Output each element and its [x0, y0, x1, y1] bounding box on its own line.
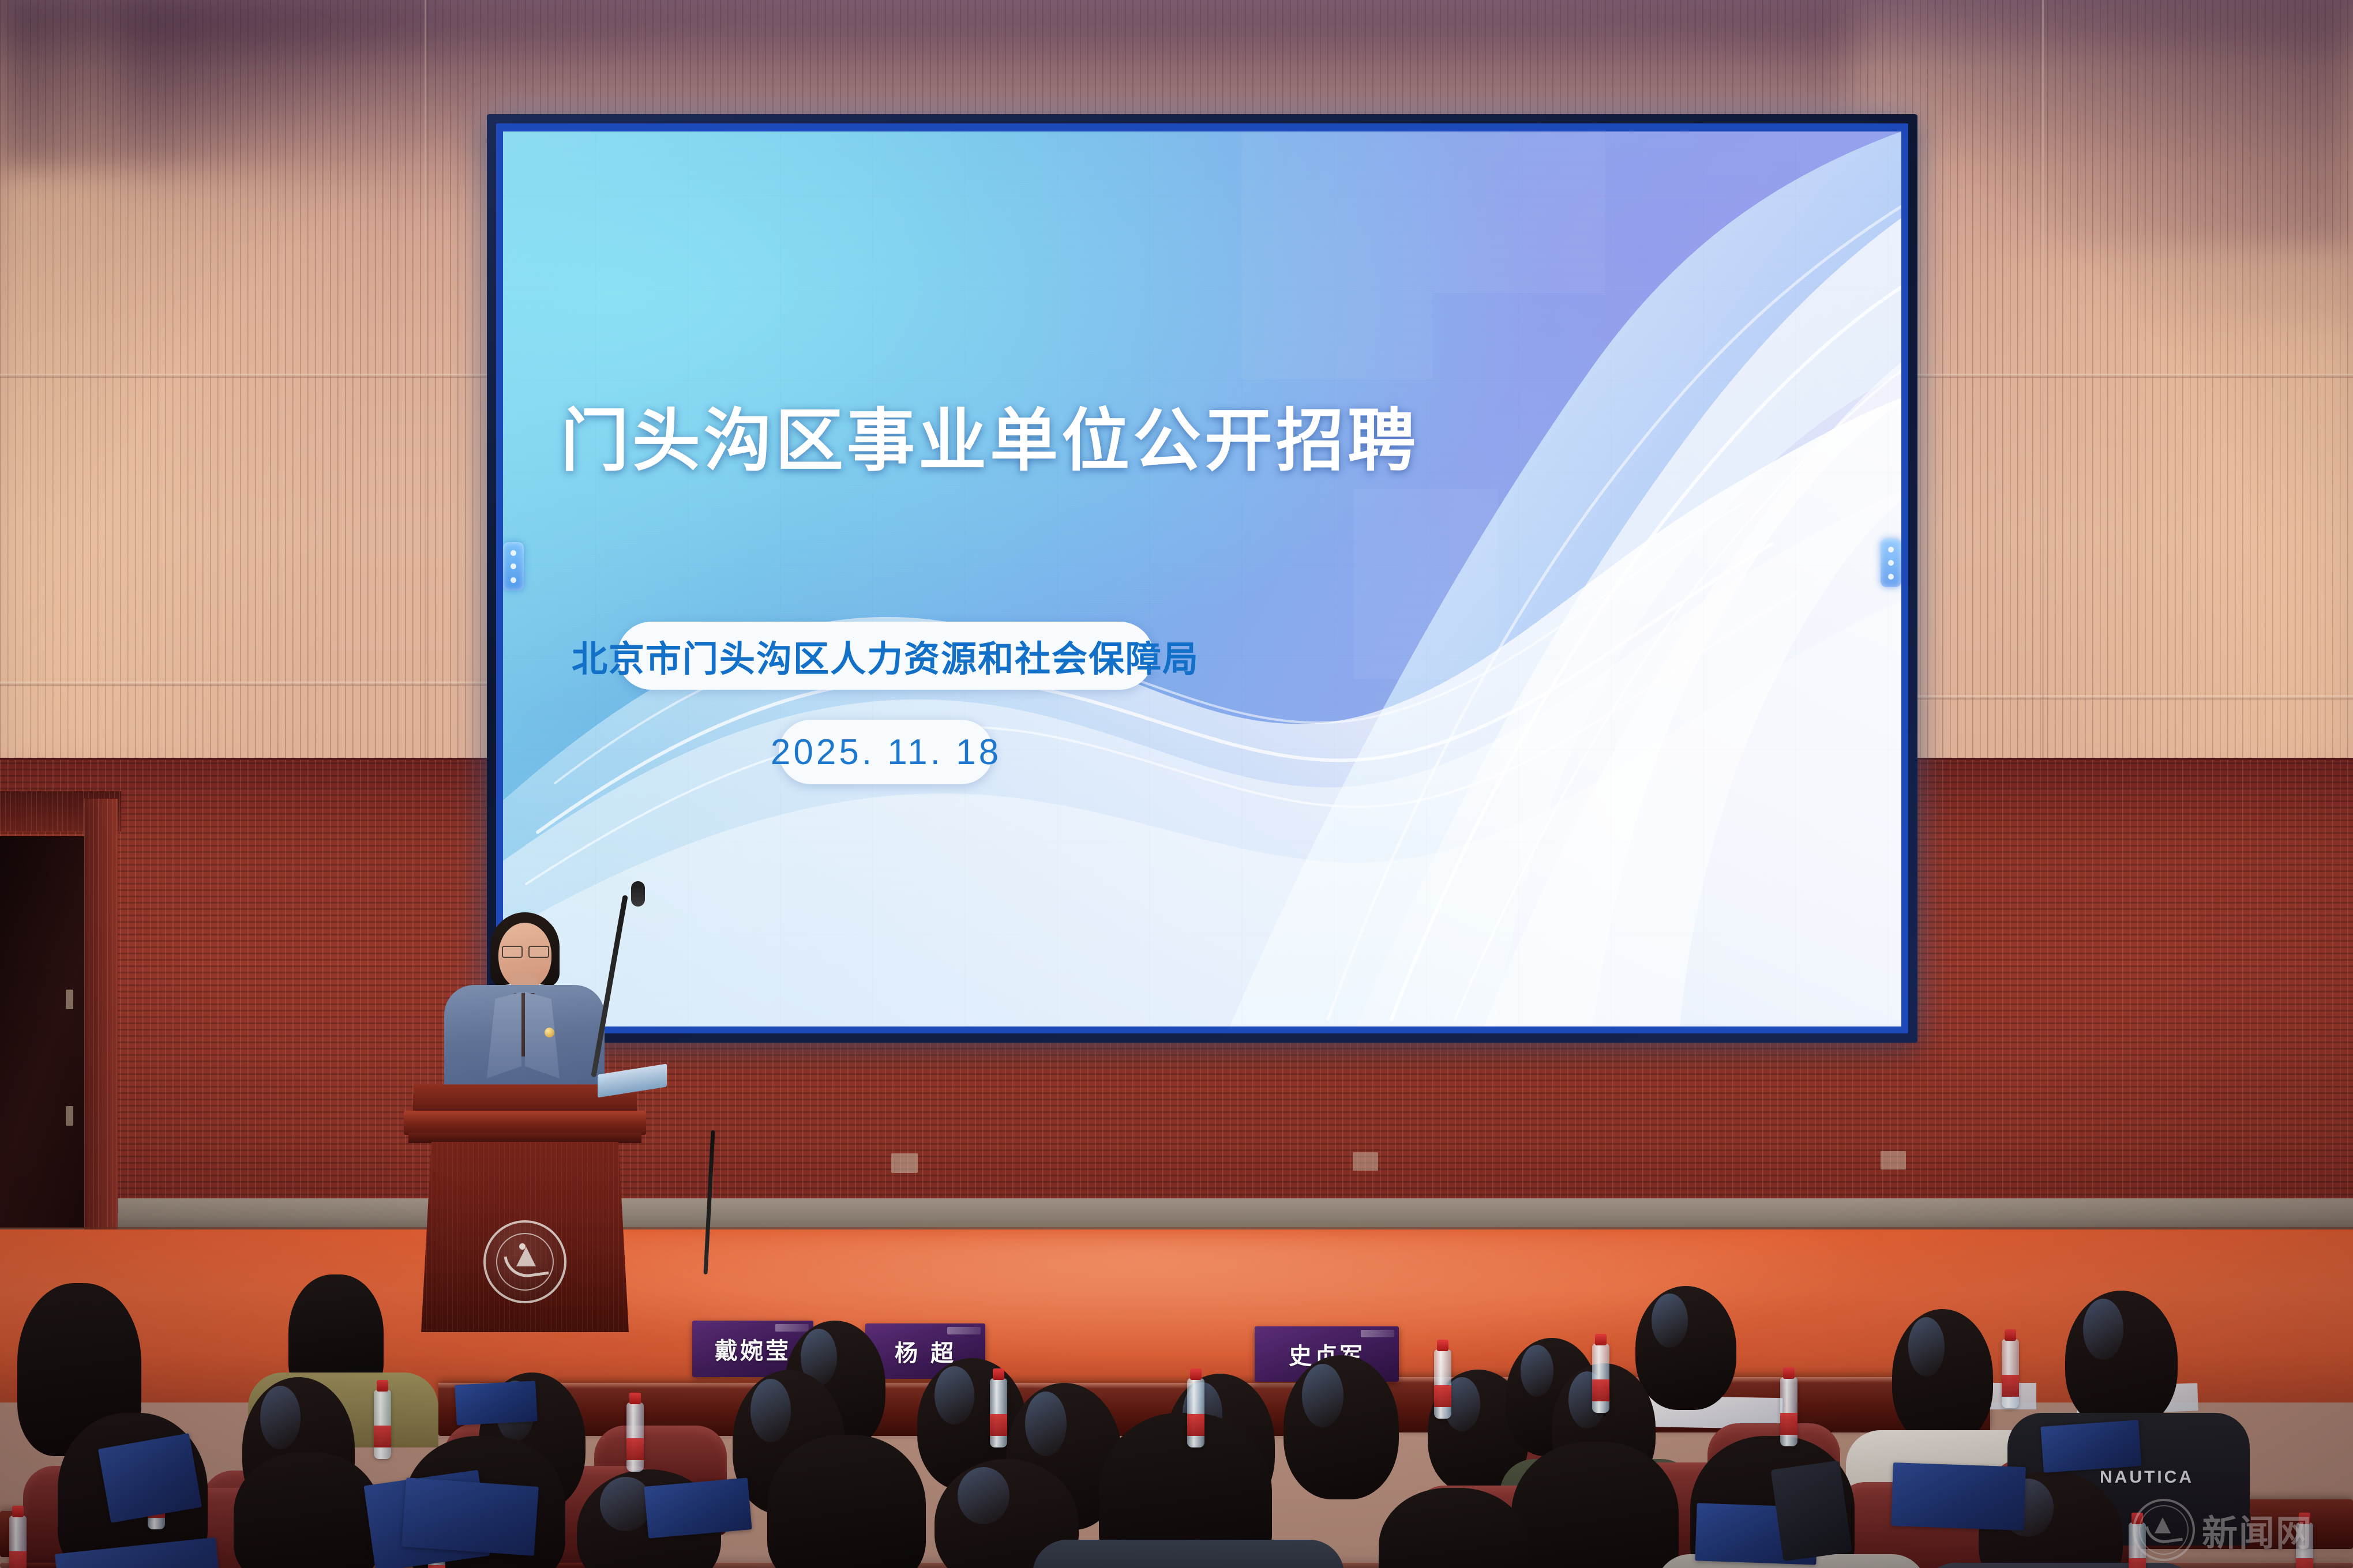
slide-date-text: 2025. 11. 18: [771, 732, 1001, 773]
wall-highlight-left: [0, 173, 438, 761]
speaker-at-podium: [437, 900, 610, 1101]
water-bottle-6[interactable]: [990, 1378, 1007, 1447]
water-bottle-11[interactable]: [2002, 1339, 2019, 1408]
shoulders-r1-k: [1921, 1563, 2198, 1568]
jacket-brand-text: NAUTICA: [2100, 1468, 2194, 1487]
tablet-device[interactable]: [1770, 1460, 1852, 1561]
water-bottle-10[interactable]: [1780, 1377, 1797, 1446]
wall-outlet-3: [1881, 1151, 1906, 1170]
water-bottle-8[interactable]: [1434, 1349, 1451, 1419]
led-panel-blotch-3: [1354, 489, 1498, 679]
wall-highlight-right: [1857, 248, 2353, 767]
head-r3-g: [1635, 1286, 1736, 1410]
nameplate-1-label: 戴婉莹: [715, 1332, 791, 1366]
watermark-seal-icon: [2133, 1499, 2195, 1561]
wall-panel-seam-1: [425, 0, 426, 761]
folder-5[interactable]: [455, 1381, 537, 1425]
head-r3-h: [1892, 1309, 1993, 1445]
wall-seam-left: [0, 682, 496, 686]
wall-outlet-2: [1353, 1152, 1378, 1171]
wall-outlet-1: [891, 1153, 918, 1173]
folder-7[interactable]: [2040, 1420, 2141, 1473]
folder-1[interactable]: [98, 1433, 202, 1523]
nameplate-3-brandmark: [1361, 1330, 1394, 1337]
led-panel-blotch-2: [1432, 131, 1605, 293]
door-hinge-plate-lower: [66, 1106, 73, 1126]
wall-shadow-left: [0, 0, 438, 173]
speaker-lapel-pin: [545, 1028, 554, 1037]
speaker-glasses-icon: [502, 946, 549, 956]
audience-area: 戴婉莹 杨 超 史贞军: [0, 1240, 2353, 1568]
led-pixel-grid: [503, 131, 1901, 1026]
water-bottle-9[interactable]: [1592, 1344, 1609, 1413]
nameplate-2-brandmark: [947, 1327, 981, 1334]
slide-date-pill: 2025. 11. 18: [779, 720, 993, 784]
head-r3-d: [1284, 1355, 1399, 1499]
conference-photo-scene: 门头沟区事业单位公开招聘 北京市门头沟区人力资源和社会保障局 2025. 11.…: [0, 0, 2353, 1568]
folder-6[interactable]: [1891, 1462, 2026, 1531]
door-hinge-plate-upper: [66, 990, 73, 1009]
lectern-cornice-lower: [408, 1133, 641, 1143]
presentation-screen[interactable]: 门头沟区事业单位公开招聘 北京市门头沟区人力资源和社会保障局 2025. 11.…: [503, 131, 1901, 1026]
folder-4[interactable]: [401, 1477, 539, 1556]
slide-title: 门头沟区事业单位公开招聘: [561, 385, 1541, 484]
folder-9[interactable]: [644, 1477, 752, 1538]
watermark-text: 新闻网: [2202, 1504, 2313, 1556]
head-r1-e: [767, 1435, 926, 1568]
nameplate-1-brandmark: [775, 1324, 809, 1332]
head-r2-nautica: [2065, 1291, 2178, 1429]
doorway-jamb: [84, 799, 118, 1237]
wall-seam-right: [1909, 695, 2353, 700]
left-edge-toggle-icon[interactable]: [503, 542, 524, 591]
nameplate-2-label: 杨 超: [895, 1334, 956, 1368]
water-bottle-7[interactable]: [1187, 1378, 1204, 1447]
head-r1-b: [234, 1452, 381, 1568]
side-doorway[interactable]: [0, 836, 87, 1228]
water-bottle-3[interactable]: [374, 1390, 391, 1459]
water-bottle-5[interactable]: [626, 1402, 644, 1472]
wall-panel-seam-2: [2042, 0, 2044, 761]
right-edge-toggle-icon[interactable]: [1881, 539, 1901, 587]
lectern-cornice: [404, 1111, 646, 1135]
microphone-icon: [631, 881, 645, 907]
head-r1-h: [1511, 1442, 1679, 1568]
slide-organization-pill: 北京市门头沟区人力资源和社会保障局: [617, 622, 1154, 690]
news-watermark: 新闻网: [2133, 1499, 2340, 1561]
slide-organization-text: 北京市门头沟区人力资源和社会保障局: [572, 630, 1199, 682]
shoulders-r1-g: [1033, 1540, 1344, 1568]
led-panel-blotch-1: [1241, 131, 1432, 379]
water-bottle-2[interactable]: [9, 1516, 27, 1568]
